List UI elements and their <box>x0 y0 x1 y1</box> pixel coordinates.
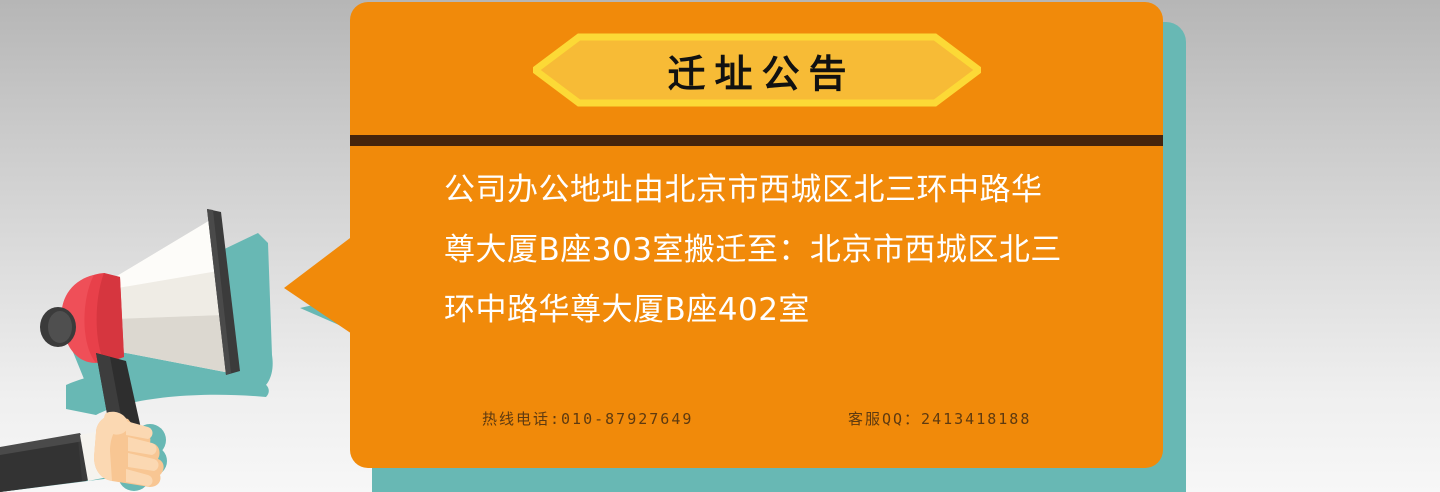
customer-service-qq: 客服QQ：2413418188 <box>848 408 1031 429</box>
notice-body-line-3: 环中路华尊大厦B座402室 <box>444 280 1104 340</box>
notice-banner-stage: 迁址公告 公司办公地址由北京市西城区北三环中路华 尊大厦B座303室搬迁至：北京… <box>0 0 1440 492</box>
title-divider <box>350 135 1163 146</box>
contact-row: 热线电话:010-87927649 客服QQ：2413418188 <box>444 408 1104 438</box>
megaphone-knob <box>40 307 76 347</box>
notice-title: 迁址公告 <box>533 33 981 107</box>
title-banner: 迁址公告 <box>533 33 981 107</box>
notice-body: 公司办公地址由北京市西城区北三环中路华 尊大厦B座303室搬迁至：北京市西城区北… <box>444 160 1104 340</box>
hotline-phone: 热线电话:010-87927649 <box>482 408 693 429</box>
notice-card-tail <box>284 232 358 338</box>
hand <box>94 412 164 487</box>
notice-body-line-2: 尊大厦B座303室搬迁至：北京市西城区北三 <box>444 220 1104 280</box>
notice-body-line-1: 公司办公地址由北京市西城区北三环中路华 <box>444 160 1104 220</box>
